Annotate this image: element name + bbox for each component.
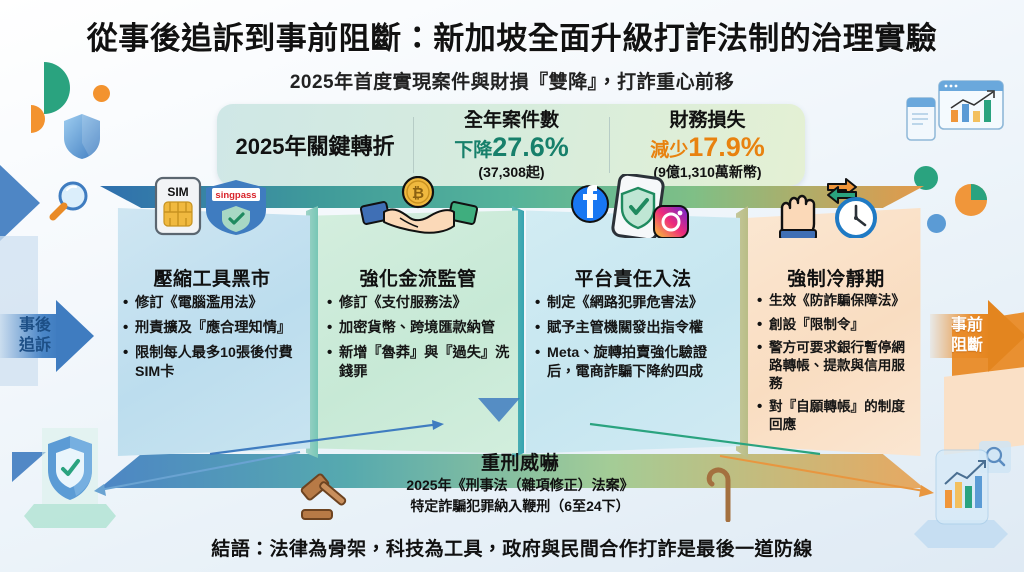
arrow-right-line1: 事前 bbox=[936, 316, 998, 336]
stat-cases-heading: 全年案件數 bbox=[418, 110, 605, 131]
page-title: 從事後追訴到事前阻斷：新加坡全面升級打詐法制的治理實驗 bbox=[0, 13, 1024, 58]
arrow-before-enforcement: 事後 追訴 bbox=[0, 300, 94, 372]
stat-cases: 全年案件數 下降27.6% (37,308起) bbox=[414, 110, 609, 180]
svg-text:₿: ₿ bbox=[412, 185, 424, 202]
flow-arrow-outer-right bbox=[720, 456, 930, 492]
pillar-1-bullets: 修訂《電腦濫用法》 刑責擴及『應合理知情』 限制每人最多10張後付費SIM卡 bbox=[122, 294, 304, 388]
svg-text:singpass: singpass bbox=[215, 190, 256, 201]
arrow-left-label: 事後 追訴 bbox=[4, 316, 66, 356]
stat-loss-value: 減少17.9% bbox=[614, 132, 801, 164]
document-window-icon bbox=[906, 97, 936, 141]
stop-hand-icon bbox=[780, 196, 816, 238]
pie-chart-icon bbox=[951, 178, 991, 218]
stat-cases-prefix: 下降 bbox=[454, 140, 492, 161]
stat-loss-number: 17.9% bbox=[688, 132, 765, 162]
pillar-3-icons bbox=[526, 174, 740, 236]
pillar-1-title: 壓縮工具黑市 bbox=[114, 264, 310, 291]
gavel-icon bbox=[298, 466, 354, 522]
bg-triangle-left bbox=[0, 165, 40, 241]
stat-cases-value: 下降27.6% bbox=[418, 132, 605, 164]
list-item: 修訂《電腦濫用法》 bbox=[122, 294, 304, 313]
penalty-title: 重刑威嚇 bbox=[310, 448, 730, 475]
penalty-line1: 2025年《刑事法（雜項修正）法案》 bbox=[310, 476, 730, 496]
pillar-3-bullets: 制定《網路犯罪危害法》 賦予主管機關發出指令權 Meta、旋轉拍賣強化驗證后，電… bbox=[534, 294, 734, 388]
stat-loss-heading: 財務損失 bbox=[614, 110, 801, 131]
stat-cases-number: 27.6% bbox=[492, 132, 569, 162]
list-item: 加密貨幣、跨境匯款納管 bbox=[326, 319, 512, 338]
penalty-line2: 特定詐騙犯罪納入鞭刑（6至24下） bbox=[310, 497, 730, 517]
stats-banner-label: 2025年關鍵轉折 bbox=[217, 129, 413, 161]
pillar-4-icons bbox=[748, 174, 924, 236]
stat-loss: 財務損失 減少17.9% (9億1,310萬新幣) bbox=[610, 110, 805, 180]
center-down-arrow bbox=[478, 398, 520, 422]
infographic-canvas: 從事後追訴到事前阻斷：新加坡全面升級打詐法制的治理實驗 2025年首度實現案件與… bbox=[0, 0, 1024, 572]
bitcoin-coin-icon: ₿ bbox=[403, 177, 433, 207]
arrow-left-line1: 事後 bbox=[4, 316, 66, 336]
decor-half-circle-orange bbox=[31, 105, 45, 133]
pillar-3-title: 平台責任入法 bbox=[526, 264, 740, 291]
header: 從事後追訴到事前阻斷：新加坡全面升級打詐法制的治理實驗 2025年首度實現案件與… bbox=[0, 0, 1024, 94]
arrow-left-line2: 追訴 bbox=[4, 336, 66, 356]
pillar-2-bullets: 修訂《支付服務法》 加密貨幣、跨境匯款納管 新增『魯莽』與『過失』洗錢罪 bbox=[326, 294, 512, 388]
arrow-after-prevention: 事前 阻斷 bbox=[930, 300, 1024, 372]
pillar-1-icons: SIM singpass bbox=[114, 174, 310, 236]
svg-text:SIM: SIM bbox=[167, 185, 188, 199]
arrow-right-label: 事前 阻斷 bbox=[936, 316, 998, 356]
list-item: 創設『限制令』 bbox=[756, 316, 918, 334]
instagram-icon bbox=[654, 206, 688, 238]
pillar-2-icons: ₿ bbox=[318, 174, 518, 236]
list-item: 賦予主管機關發出指令權 bbox=[534, 319, 734, 338]
pillar-2-title: 強化金流監管 bbox=[318, 264, 518, 291]
conclusion-text: 結語：法律為骨架，科技為工具，政府與民間合作打詐是最後一道防線 bbox=[0, 534, 1024, 561]
singpass-shield-icon: singpass bbox=[206, 180, 266, 235]
list-item: Meta、旋轉拍賣強化驗證后，電商詐騙下降約四成 bbox=[534, 344, 734, 382]
list-item: 新增『魯莽』與『過失』洗錢罪 bbox=[326, 344, 512, 382]
clock-icon bbox=[837, 199, 875, 237]
facebook-icon bbox=[572, 185, 608, 222]
list-item: 修訂《支付服務法》 bbox=[326, 294, 512, 313]
list-item: 生效《防詐騙保障法》 bbox=[756, 292, 918, 310]
decor-dot-blue bbox=[927, 214, 946, 233]
cane-icon bbox=[698, 464, 748, 522]
sim-card-icon: SIM bbox=[156, 178, 200, 234]
pillar-4-title: 強制冷靜期 bbox=[748, 264, 924, 291]
page-subtitle: 2025年首度實現案件與財損『雙降』，打詐重心前移 bbox=[0, 67, 1024, 94]
list-item: 刑責擴及『應合理知情』 bbox=[122, 319, 304, 338]
search-icon bbox=[46, 178, 92, 224]
list-item: 限制每人最多10張後付費SIM卡 bbox=[122, 344, 304, 382]
stat-loss-prefix: 減少 bbox=[650, 140, 688, 161]
penalty-section: 重刑威嚇 2025年《刑事法（雜項修正）法案》 特定詐騙犯罪納入鞭刑（6至24下… bbox=[310, 448, 730, 517]
list-item: 制定《網路犯罪危害法》 bbox=[534, 294, 734, 313]
arrow-right-line2: 阻斷 bbox=[936, 336, 998, 356]
flow-arrow-outer-left bbox=[100, 452, 300, 490]
shield-icon bbox=[62, 113, 102, 160]
